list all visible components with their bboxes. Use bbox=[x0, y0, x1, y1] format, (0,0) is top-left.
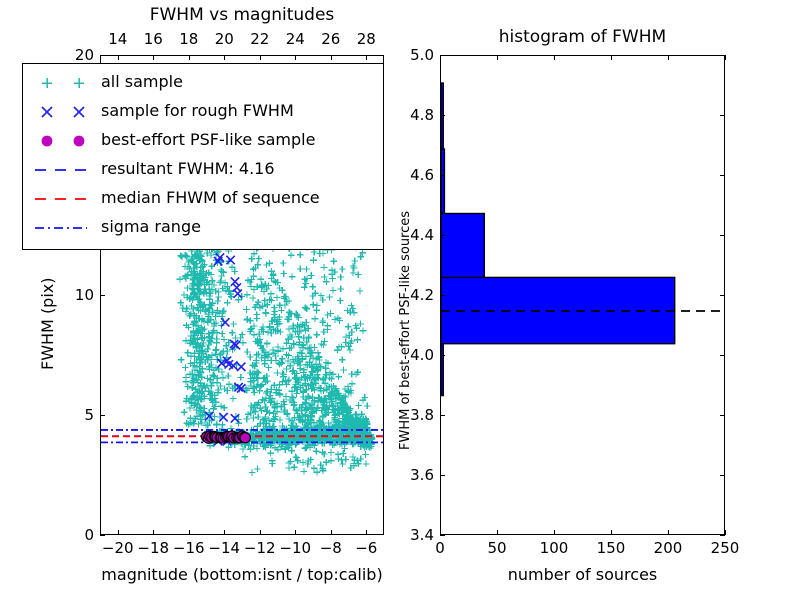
right-x-tick-250: 250 bbox=[703, 539, 747, 557]
right-y-tick-3.6: 3.6 bbox=[390, 466, 434, 484]
right-y-tick-mark bbox=[440, 175, 445, 176]
right-x-tick-0: 0 bbox=[418, 539, 462, 557]
legend-box: all samplesample for rough FWHMbest-effo… bbox=[22, 63, 384, 250]
top-axis-tick-28: 28 bbox=[346, 30, 386, 48]
right-x-tick-mark-top bbox=[440, 55, 441, 60]
left-y-tick-mark bbox=[100, 55, 105, 56]
plus-marker bbox=[69, 69, 89, 98]
legend-item-0: all sample bbox=[23, 69, 383, 98]
right-y-tick-mark bbox=[440, 355, 445, 356]
right-y-tick-4.6: 4.6 bbox=[390, 166, 434, 184]
top-axis-tick-14: 14 bbox=[98, 30, 138, 48]
left-y-tick-20: 20 bbox=[52, 46, 94, 64]
right-x-tick-mark-top bbox=[497, 55, 498, 60]
right-y-tick-mark-mirror bbox=[720, 115, 725, 116]
left-y-tick-0: 0 bbox=[52, 526, 94, 544]
right-y-tick-mark-mirror bbox=[720, 475, 725, 476]
left-panel-title: FWHM vs magnitudes bbox=[100, 5, 384, 25]
legend-item-5: sigma range bbox=[23, 214, 383, 243]
legend-item-label: sigma range bbox=[101, 217, 201, 236]
legend-item-4: median FHWM of sequence bbox=[23, 185, 383, 214]
cross-marker bbox=[37, 98, 57, 127]
dashed-line bbox=[31, 185, 91, 214]
left-y-tick-mark bbox=[100, 295, 105, 296]
legend-item-label: all sample bbox=[101, 72, 183, 91]
right-panel-x-axis-label: number of sources bbox=[440, 565, 725, 584]
left-y-tick-mark bbox=[100, 415, 105, 416]
right-y-tick-mark bbox=[440, 415, 445, 416]
left-x-tick-mark bbox=[118, 530, 119, 535]
top-axis-tick-18: 18 bbox=[169, 30, 209, 48]
right-x-tick-100: 100 bbox=[532, 539, 576, 557]
right-y-tick-mark bbox=[440, 535, 445, 536]
left-x-tick-mark bbox=[295, 530, 296, 535]
top-axis-tick-26: 26 bbox=[311, 30, 351, 48]
histogram-bars bbox=[441, 83, 675, 396]
right-x-tick-mark bbox=[554, 530, 555, 535]
psf-like-points bbox=[201, 431, 250, 443]
right-x-tick-mark-top bbox=[725, 55, 726, 60]
legend-item-label: sample for rough FWHM bbox=[101, 101, 294, 120]
circle-marker bbox=[37, 127, 57, 156]
legend-item-label: best-effort PSF-like sample bbox=[101, 130, 315, 149]
legend-item-2: best-effort PSF-like sample bbox=[23, 127, 383, 156]
right-x-tick-mark bbox=[668, 530, 669, 535]
right-x-tick-150: 150 bbox=[589, 539, 633, 557]
right-plot-data-area bbox=[441, 56, 724, 534]
left-panel-x-axis-label: magnitude (bottom:isnt / top:calib) bbox=[70, 565, 414, 584]
right-x-tick-mark bbox=[497, 530, 498, 535]
cross-marker bbox=[69, 98, 89, 127]
right-y-tick-mark-mirror bbox=[720, 355, 725, 356]
right-panel-title: histogram of FWHM bbox=[440, 27, 725, 47]
right-y-tick-4.8: 4.8 bbox=[390, 106, 434, 124]
right-y-tick-mark bbox=[440, 295, 445, 296]
circle-marker bbox=[69, 127, 89, 156]
top-axis-tick-22: 22 bbox=[240, 30, 280, 48]
top-axis-tick-20: 20 bbox=[204, 30, 244, 48]
legend-item-3: resultant FWHM: 4.16 bbox=[23, 156, 383, 185]
right-x-tick-mark-top bbox=[554, 55, 555, 60]
top-axis-tick-16: 16 bbox=[133, 30, 173, 48]
left-x-tick-mark bbox=[366, 530, 367, 535]
right-y-tick-mark-mirror bbox=[720, 175, 725, 176]
left-y-tick-10: 10 bbox=[52, 286, 94, 304]
left-x-tick-mark bbox=[153, 530, 154, 535]
right-y-tick-mark bbox=[440, 475, 445, 476]
plus-marker bbox=[37, 69, 57, 98]
histogram-svg bbox=[441, 56, 724, 534]
right-x-tick-50: 50 bbox=[475, 539, 519, 557]
right-x-tick-mark bbox=[440, 530, 441, 535]
legend-item-label: resultant FWHM: 4.16 bbox=[101, 159, 275, 178]
right-y-tick-mark-mirror bbox=[720, 235, 725, 236]
right-x-tick-200: 200 bbox=[646, 539, 690, 557]
left-x-tick-mark bbox=[260, 530, 261, 535]
legend-item-1: sample for rough FWHM bbox=[23, 98, 383, 127]
left-x-tick-mark bbox=[224, 530, 225, 535]
right-x-tick-mark-top bbox=[668, 55, 669, 60]
left-y-tick-mark bbox=[100, 535, 105, 536]
right-y-tick-mark bbox=[440, 235, 445, 236]
right-x-tick-mark bbox=[725, 530, 726, 535]
right-y-tick-mark bbox=[440, 115, 445, 116]
figure-canvas: FWHM vs magnitudes 1416182022242628 0510… bbox=[0, 0, 800, 600]
left-y-tick-5: 5 bbox=[52, 406, 94, 424]
right-y-tick-mark-mirror bbox=[720, 295, 725, 296]
right-panel-y-axis-label: FWHM of best-effort PSF-like sources bbox=[398, 211, 413, 450]
left-x-tick-mark bbox=[331, 530, 332, 535]
top-axis-tick-24: 24 bbox=[275, 30, 315, 48]
right-y-tick-mark-mirror bbox=[720, 535, 725, 536]
left-panel-y-axis-label: FWHM (pix) bbox=[38, 278, 57, 371]
legend-item-label: median FHWM of sequence bbox=[101, 188, 320, 207]
left-x-tick-mark bbox=[189, 530, 190, 535]
right-y-tick-mark-mirror bbox=[720, 415, 725, 416]
right-x-tick-mark bbox=[611, 530, 612, 535]
left-x-tick--6: −6 bbox=[344, 539, 388, 557]
dashed-line bbox=[31, 156, 91, 185]
right-x-tick-mark-top bbox=[611, 55, 612, 60]
right-y-tick-5: 5.0 bbox=[390, 46, 434, 64]
dashdot-line bbox=[31, 214, 91, 243]
